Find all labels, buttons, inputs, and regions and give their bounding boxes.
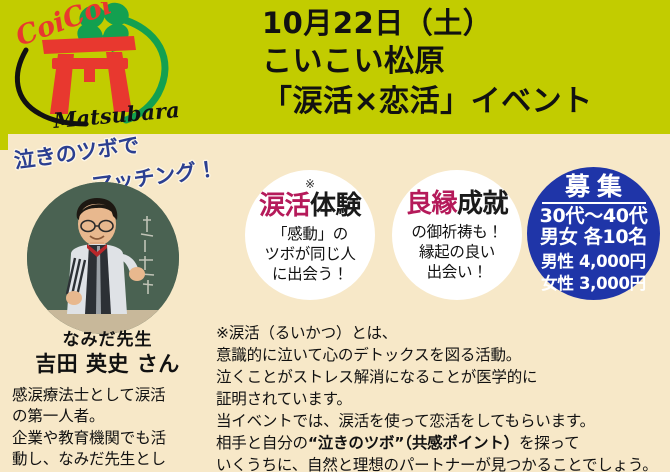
recruit-target-age: 30代〜40代 (527, 206, 660, 227)
description-line: 当イベントでは、涙活を使って恋活をしてもらいます。 (216, 410, 666, 432)
recruit-title: 募集 (527, 173, 660, 201)
feature-1-body-line: 「感動」の (235, 224, 385, 244)
coicoi-matsubara-logo: CoiCoi Matsubara (6, 2, 196, 132)
tagline-line-1: 泣きのツボで (12, 129, 141, 175)
recruit-target-capacity: 男女 各10名 (527, 227, 660, 248)
description-line: ※涙活（るいかつ）とは、 (216, 322, 666, 344)
feature-circle-2-body: の御祈祷も！ 縁起の良い 出会い！ (382, 222, 532, 282)
event-flyer: CoiCoi Matsubara 10月22日（土） こいこい松原 「涙活×恋活… (0, 0, 670, 472)
feature-circle-2-title: 良縁成就 (382, 190, 532, 219)
teacher-name-block: なみだ先生 吉田 英史 さん (0, 330, 215, 379)
event-date: 10月22日（土） (262, 4, 664, 42)
event-venue: こいこい松原 (262, 42, 664, 82)
description-block: ※涙活（るいかつ）とは、 意識的に泣いて心のデトックスを図る活動。 泣くことがス… (216, 322, 666, 472)
teacher-bio: 感涙療法士として涙活 の第一人者。 企業や教育機関でも活 動し、なみだ先生とし … (12, 385, 210, 472)
feature-1-body-line: ツボが同じ人 (235, 244, 385, 264)
description-line: いくうちに、自然と理想のパートナーが見つかることでしょう。 (216, 454, 666, 472)
recruit-price-female: 女性 3,000円 (527, 274, 660, 293)
feature-circle-1-body: 「感動」の ツボが同じ人 に出会う！ (235, 224, 385, 284)
description-line6-bold: “泣きのツボ”（共感ポイント） (308, 434, 519, 452)
description-line: 証明されています。 (216, 388, 666, 410)
feature-2-body-line: 出会い！ (382, 262, 532, 282)
feature-1-title-plain: 体験 (310, 191, 361, 221)
recruit-divider (542, 202, 646, 204)
bio-line: の第一人者。 (12, 406, 210, 427)
feature-circle-1-content: ※ 涙活体験 「感動」の ツボが同じ人 に出会う！ (235, 178, 385, 284)
description-line6-pre: 相手と自分の (216, 434, 308, 452)
feature-2-body-line: の御祈祷も！ (382, 222, 532, 242)
event-title: 「涙活×恋活」イベント (262, 82, 664, 122)
feature-circle-2-content: 良縁成就 の御祈祷も！ 縁起の良い 出会い！ (382, 190, 532, 282)
feature-circle-1-title: 涙活体験 (235, 192, 385, 221)
left-green-strip (0, 134, 8, 150)
description-line-emphasis: 相手と自分の“泣きのツボ”（共感ポイント）を探って (216, 432, 666, 454)
feature-1-body-line: に出会う！ (235, 264, 385, 284)
description-line: 泣くことがストレス解消になることが医学的に (216, 366, 666, 388)
feature-1-title-accent: 涙活 (259, 191, 310, 221)
bio-line: 感涙療法士として涙活 (12, 385, 210, 406)
header-text-block: 10月22日（土） こいこい松原 「涙活×恋活」イベント (262, 4, 664, 121)
description-line: 意識的に泣いて心のデトックスを図る活動。 (216, 344, 666, 366)
bio-line: 動し、なみだ先生とし (12, 449, 210, 470)
recruit-price-male: 男性 4,000円 (527, 252, 660, 271)
asterisk-mark-icon: ※ (235, 178, 385, 192)
teacher-kana: なみだ先生 (0, 330, 215, 351)
teacher-name: 吉田 英史 さん (0, 351, 215, 378)
bio-line: 企業や教育機関でも活 (12, 428, 210, 449)
description-line6-post: を探って (519, 434, 579, 452)
feature-2-title-accent: 良縁 (406, 189, 457, 219)
feature-2-title-plain: 成就 (457, 189, 508, 219)
recruitment-badge: 募集 30代〜40代 男女 各10名 男性 4,000円 女性 3,000円 (527, 167, 660, 300)
svg-text:Matsubara: Matsubara (51, 97, 180, 132)
teacher-photo (27, 182, 179, 334)
feature-2-body-line: 縁起の良い (382, 242, 532, 262)
